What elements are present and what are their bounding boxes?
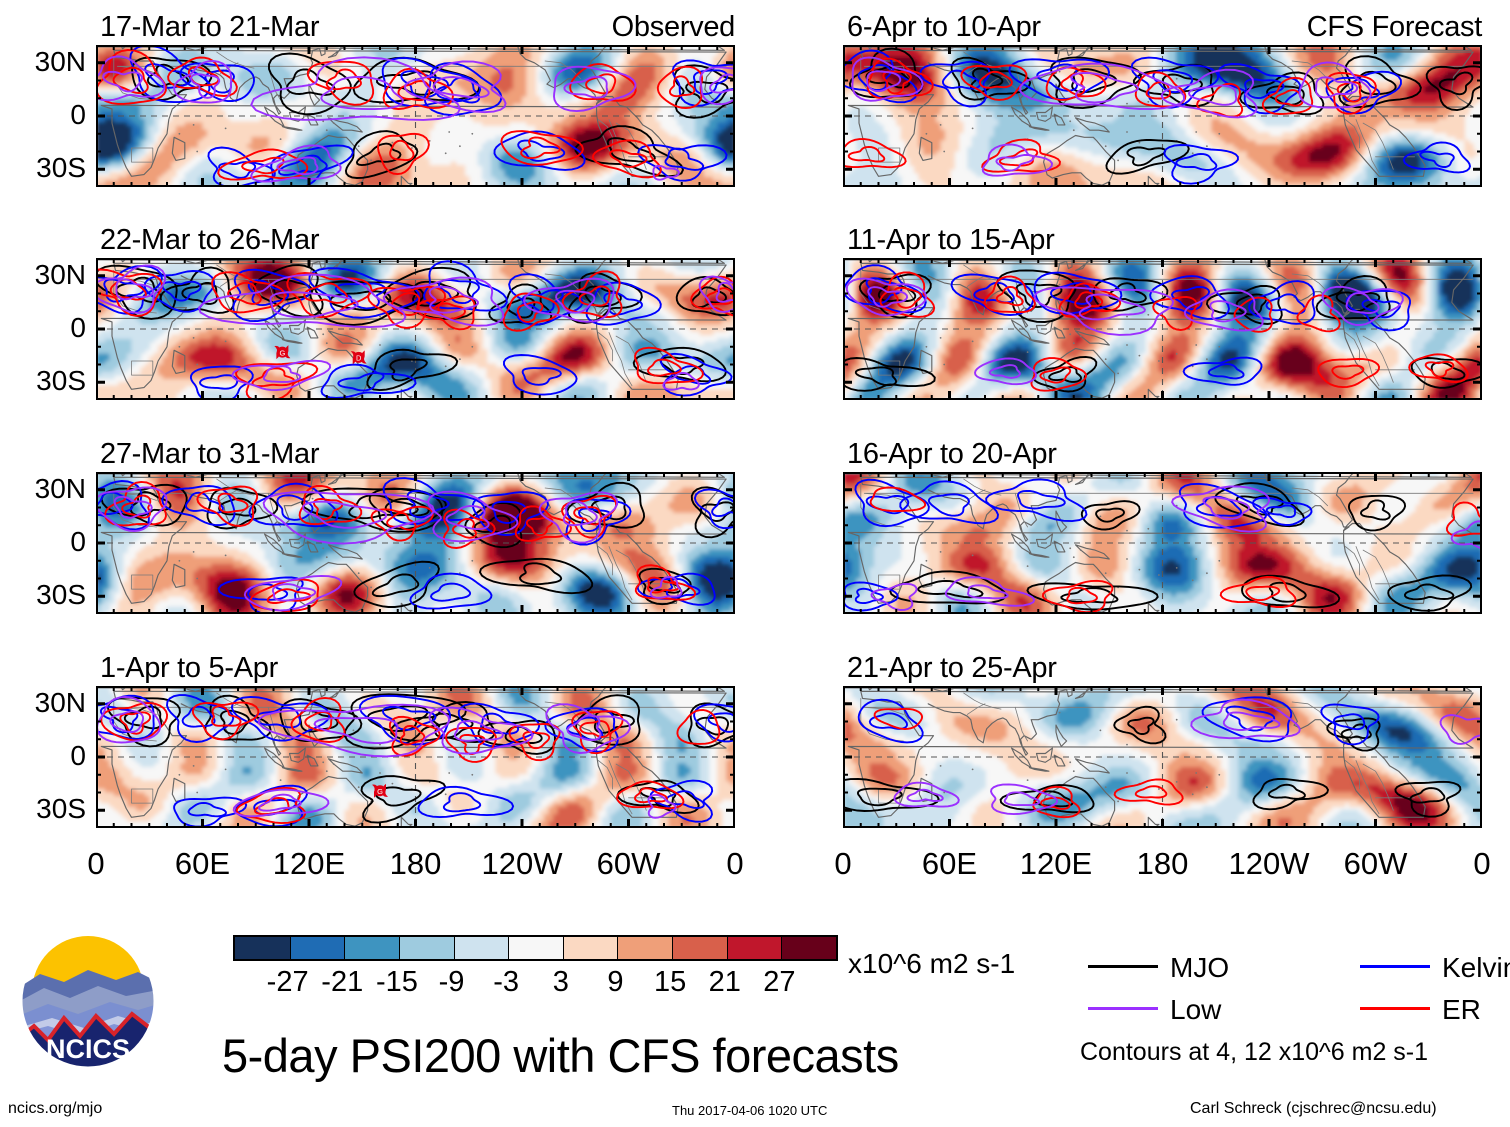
contour-mjo <box>1094 278 1168 311</box>
contour-er <box>617 781 684 808</box>
contour-kelvin <box>1180 484 1267 528</box>
legend-label-kelvin-x2: Kelvin x2 <box>1442 952 1510 984</box>
x-tick-180-col0: 180 <box>356 846 476 882</box>
colorbar-segment-2 <box>344 937 399 959</box>
contour-er <box>985 277 1035 313</box>
contour-kelvin <box>418 787 513 817</box>
contour-kelvin <box>1203 697 1292 741</box>
contour-kelvin <box>208 148 275 188</box>
contour-kelvin <box>145 271 215 312</box>
contour-er <box>868 59 933 99</box>
contour-er <box>635 348 703 384</box>
contour-mjo <box>302 489 442 532</box>
y-tick-0-p1: 0 <box>8 99 86 131</box>
contour-mjo <box>354 58 480 103</box>
y-tick-30N-p3: 30N <box>8 473 86 505</box>
contour-low <box>653 166 679 180</box>
colorbar-segment-3 <box>399 937 454 959</box>
contour-mjo <box>1082 501 1140 529</box>
contour-mjo <box>489 284 551 324</box>
legend-swatch-low <box>1088 1007 1158 1010</box>
contour-er <box>300 486 362 524</box>
contour-low <box>847 279 926 316</box>
colorbar-segment-7 <box>617 937 672 959</box>
x-tick-60W-col1: 60W <box>1316 846 1436 882</box>
colorbar-segment-1 <box>290 937 345 959</box>
contour-low <box>894 783 958 807</box>
contour-kelvin <box>96 696 154 739</box>
panel-title-p1: 17-Mar to 21-Mar <box>100 11 319 44</box>
contour-kelvin <box>1184 358 1262 385</box>
contour-er <box>1235 298 1272 332</box>
contour-kelvin <box>586 283 660 325</box>
contour-kelvin <box>694 704 735 741</box>
contour-mjo <box>1001 785 1094 812</box>
contour-er <box>97 50 166 104</box>
map-p4: G <box>96 686 735 828</box>
legend-item-mjo: MJO <box>1088 952 1328 986</box>
contour-mjo <box>843 358 935 391</box>
contour-er <box>1047 68 1106 100</box>
contour-low <box>429 708 532 754</box>
contour-low <box>1452 521 1482 548</box>
contour-kelvin <box>638 145 726 181</box>
contour-kelvin <box>900 481 998 523</box>
panel-corner-p1: Observed <box>612 11 735 44</box>
contour-er <box>691 277 735 316</box>
contour-low <box>700 67 735 104</box>
x-tick-180-col1: 180 <box>1103 846 1223 882</box>
map-p7 <box>843 472 1482 614</box>
contour-mjo <box>1427 66 1482 110</box>
contour-mjo <box>843 779 939 811</box>
contour-low <box>1191 700 1300 739</box>
contour-er <box>871 488 926 512</box>
contour-kelvin <box>855 480 929 527</box>
contour-low <box>251 145 341 181</box>
contour-low <box>232 361 330 390</box>
panel-title-p4: 1-Apr to 5-Apr <box>100 652 278 685</box>
contour-kelvin <box>96 266 162 314</box>
contour-kelvin <box>232 697 329 741</box>
contour-mjo <box>1349 496 1405 531</box>
contour-mjo <box>254 265 323 316</box>
contour-er <box>563 271 622 317</box>
contour-mjo <box>634 348 726 382</box>
contour-er <box>570 64 636 101</box>
contour-er <box>218 150 307 180</box>
contour-mjo <box>1412 358 1482 388</box>
contour-er <box>212 272 285 312</box>
contour-er <box>101 703 167 740</box>
colorbar <box>233 935 838 961</box>
contour-kelvin <box>504 355 577 395</box>
map-p2: GD <box>96 258 735 400</box>
contour-low <box>97 697 160 743</box>
storm-marker: D <box>351 350 367 364</box>
x-tick-60E-col1: 60E <box>890 846 1010 882</box>
contour-kelvin <box>920 62 989 107</box>
contour-er <box>572 711 623 753</box>
contour-kelvin <box>1249 281 1315 324</box>
x-tick-120E-col0: 120E <box>249 846 369 882</box>
x-tick-0-col0: 0 <box>675 846 795 882</box>
colorbar-segment-10 <box>781 937 836 959</box>
colorbar-tick-27: 27 <box>739 966 819 999</box>
storm-marker: G <box>372 784 388 798</box>
contour-note: Contours at 4, 12 x10^6 m2 s-1 <box>1080 1038 1428 1067</box>
legend-swatch-mjo <box>1088 965 1158 968</box>
contour-kelvin <box>130 46 209 103</box>
contour-er <box>1136 72 1186 106</box>
ncics-logo-text: NCICS <box>46 1034 130 1064</box>
contour-low <box>1322 287 1402 325</box>
contour-low <box>1172 486 1269 531</box>
legend-label-er: ER <box>1442 994 1481 1026</box>
contour-low <box>174 61 231 103</box>
contour-er <box>1043 581 1113 612</box>
contour-kelvin <box>180 63 254 101</box>
colorbar-segment-4 <box>454 937 509 959</box>
legend-item-er: ER <box>1360 994 1510 1028</box>
contour-kelvin <box>410 574 491 609</box>
contour-low <box>251 57 460 120</box>
contour-kelvin <box>661 354 732 396</box>
contour-mjo <box>689 703 735 747</box>
y-tick-0-p3: 0 <box>8 526 86 558</box>
contour-er <box>291 698 344 742</box>
contour-er <box>1197 84 1242 117</box>
map-p3 <box>96 472 735 614</box>
contour-mjo <box>310 282 423 325</box>
main-title: 5-day PSI200 with CFS forecasts <box>222 1028 899 1083</box>
contour-low <box>405 62 506 113</box>
x-tick-120W-col0: 120W <box>462 846 582 882</box>
contour-kelvin <box>167 695 233 742</box>
contour-er <box>168 58 237 97</box>
contour-kelvin <box>191 366 253 400</box>
y-tick-30N-p1: 30N <box>8 46 86 78</box>
contour-mjo <box>618 781 699 814</box>
contour-mjo <box>280 699 361 741</box>
contour-mjo <box>1027 583 1157 609</box>
contour-kelvin <box>174 798 246 827</box>
contour-mjo <box>367 350 457 390</box>
panel-title-p7: 16-Apr to 20-Apr <box>847 438 1057 471</box>
contour-mjo <box>1051 57 1141 108</box>
contour-mjo <box>1395 782 1460 817</box>
contour-low <box>872 584 917 610</box>
contour-mjo <box>568 273 642 323</box>
contour-er <box>287 273 371 317</box>
contour-kelvin <box>844 265 926 312</box>
contour-kelvin <box>673 61 735 106</box>
legend-swatch-kelvin-x2 <box>1360 965 1430 968</box>
contour-mjo <box>1034 357 1097 392</box>
contour-er <box>1033 787 1079 817</box>
contour-mjo <box>567 483 644 528</box>
panel-title-p8: 21-Apr to 25-Apr <box>847 652 1057 685</box>
contour-kelvin <box>1035 273 1122 314</box>
contour-kelvin <box>271 145 353 187</box>
contour-low <box>554 67 636 111</box>
contour-low <box>524 279 614 322</box>
contour-mjo <box>385 268 476 319</box>
contour-mjo <box>576 126 683 176</box>
contour-er <box>1115 779 1183 804</box>
contour-mjo <box>675 65 736 118</box>
panel-title-p3: 27-Mar to 31-Mar <box>100 438 319 471</box>
contour-kelvin <box>1404 142 1470 172</box>
contour-er <box>843 139 906 167</box>
contour-er <box>193 702 258 739</box>
footer-author: Carl Schreck (cjschrec@ncsu.edu) <box>1190 1100 1437 1118</box>
x-tick-0-col1: 0 <box>1422 846 1510 882</box>
contour-kelvin <box>360 696 450 745</box>
colorbar-units-label: x10^6 m2 s-1 <box>848 948 1015 980</box>
contour-kelvin <box>383 58 481 106</box>
contour-mjo <box>161 268 234 313</box>
contour-kelvin <box>1347 291 1411 331</box>
contour-kelvin <box>651 781 713 822</box>
footer-left[interactable]: ncics.org/mjo <box>8 1100 102 1118</box>
legend-item-kelvin-x2: Kelvin x2 <box>1360 952 1510 986</box>
contour-low <box>1162 70 1257 118</box>
contour-mjo <box>354 562 439 607</box>
legend-label-low: Low <box>1170 994 1221 1026</box>
y-tick-30S-p2: 30S <box>8 365 86 397</box>
contour-low <box>852 57 922 100</box>
contour-mjo <box>370 489 446 529</box>
ncics-logo: NCICS <box>18 930 158 1072</box>
contour-er <box>636 565 695 600</box>
y-tick-30S-p1: 30S <box>8 152 86 184</box>
y-tick-30N-p2: 30N <box>8 259 86 291</box>
contour-kelvin <box>1150 276 1229 319</box>
contour-er <box>368 287 445 328</box>
contour-er <box>982 140 1060 172</box>
contour-mjo <box>1242 576 1339 608</box>
contour-low <box>700 277 735 312</box>
contour-er <box>658 67 702 108</box>
contour-kelvin <box>309 268 419 318</box>
contour-low <box>648 795 675 818</box>
contour-er <box>510 724 560 760</box>
contour-mjo <box>102 485 187 526</box>
y-tick-30N-p4: 30N <box>8 687 86 719</box>
x-tick-0-col1: 0 <box>783 846 903 882</box>
contour-mjo <box>479 721 556 754</box>
contour-kelvin <box>859 700 923 743</box>
contour-er <box>378 134 429 174</box>
contour-mjo <box>346 131 418 178</box>
contour-low <box>540 492 618 542</box>
contour-low <box>96 56 164 100</box>
contour-mjo <box>677 277 735 315</box>
storm-marker: G <box>274 345 290 359</box>
contour-er <box>961 65 1026 100</box>
contour-low <box>96 265 165 313</box>
legend-item-low: Low <box>1088 994 1328 1028</box>
contour-er <box>96 270 162 316</box>
colorbar-segment-5 <box>508 937 563 959</box>
y-tick-30S-p3: 30S <box>8 579 86 611</box>
contour-er <box>237 788 306 823</box>
contour-kelvin <box>236 786 307 827</box>
contour-er <box>1318 359 1379 387</box>
contour-er <box>1059 284 1120 317</box>
contour-kelvin <box>425 63 502 115</box>
x-tick-60W-col0: 60W <box>569 846 689 882</box>
contour-low <box>983 145 1052 176</box>
contour-mjo <box>890 571 1005 603</box>
contour-kelvin <box>233 270 310 321</box>
map-p5 <box>843 45 1482 187</box>
contour-kelvin <box>249 484 337 527</box>
contour-low <box>946 577 1034 606</box>
contour-mjo <box>1215 483 1304 526</box>
contour-er <box>880 272 934 317</box>
contour-low <box>1185 290 1263 331</box>
contour-low <box>199 275 406 328</box>
map-p6 <box>843 258 1482 400</box>
contour-mjo <box>850 49 922 98</box>
x-tick-120W-col1: 120W <box>1209 846 1329 882</box>
map-p1 <box>96 45 735 187</box>
contour-er <box>1153 297 1196 330</box>
contour-mjo <box>1388 576 1471 611</box>
contour-low <box>245 576 341 611</box>
contour-mjo <box>1207 286 1282 324</box>
contour-er <box>372 507 433 541</box>
contour-kelvin <box>566 499 630 544</box>
contour-kelvin <box>843 51 917 103</box>
colorbar-segment-8 <box>672 937 727 959</box>
contour-er <box>384 69 454 109</box>
contour-kelvin <box>1327 72 1401 114</box>
contour-mjo <box>465 503 521 547</box>
footer-timestamp: Thu 2017-04-06 1020 UTC <box>672 1103 827 1118</box>
contour-er <box>308 62 373 105</box>
contour-low <box>546 704 630 753</box>
contour-er <box>251 580 319 612</box>
contour-er <box>875 709 923 729</box>
contour-low <box>234 790 329 817</box>
contour-mjo <box>362 776 446 823</box>
contour-er <box>1031 358 1086 391</box>
contour-kelvin <box>986 479 1086 521</box>
contour-er <box>593 140 661 177</box>
contour-low <box>1034 287 1173 335</box>
contour-er <box>1409 354 1468 382</box>
contour-low <box>428 492 517 542</box>
contour-mjo <box>692 487 735 537</box>
contour-mjo <box>1114 707 1165 744</box>
contour-er <box>1326 73 1375 114</box>
contour-kelvin <box>1321 704 1378 744</box>
contour-kelvin <box>96 481 149 529</box>
contour-er <box>417 296 474 329</box>
x-tick-0-col0: 0 <box>36 846 156 882</box>
contour-low <box>975 359 1036 385</box>
contour-mjo <box>269 54 351 115</box>
contour-mjo <box>208 488 278 528</box>
contour-mjo <box>1317 276 1390 318</box>
contour-er <box>501 131 583 165</box>
contour-mjo <box>205 696 270 740</box>
contour-kelvin <box>459 704 539 747</box>
contour-low <box>259 705 450 757</box>
panel-corner-p5: CFS Forecast <box>1307 11 1482 44</box>
contour-mjo <box>1106 140 1188 174</box>
contour-er <box>1263 78 1312 114</box>
contour-low <box>1300 62 1371 107</box>
legend-swatch-er <box>1360 1007 1430 1010</box>
contour-low <box>651 577 682 598</box>
contour-kelvin <box>384 478 485 524</box>
y-tick-30S-p4: 30S <box>8 793 86 825</box>
contour-kelvin <box>1218 64 1300 114</box>
contour-mjo <box>640 569 691 604</box>
contour-kelvin <box>1253 498 1312 525</box>
contour-mjo <box>1253 779 1328 809</box>
contour-er <box>1447 502 1482 535</box>
contour-mjo <box>391 702 494 742</box>
contour-er <box>1221 577 1296 607</box>
contour-low <box>1020 64 1184 110</box>
contour-mjo <box>1240 73 1323 115</box>
contour-mjo <box>1327 718 1379 750</box>
contour-low <box>1441 715 1482 744</box>
contour-kelvin <box>162 486 234 525</box>
contour-er <box>562 496 616 538</box>
contour-er <box>516 506 571 541</box>
colorbar-segment-6 <box>563 937 618 959</box>
contour-er <box>236 363 317 400</box>
contour-mjo <box>132 58 211 100</box>
contour-kelvin <box>545 708 618 751</box>
contour-mjo <box>576 695 639 745</box>
contour-er <box>444 510 495 548</box>
contour-kelvin <box>509 274 582 325</box>
contour-mjo <box>1134 65 1213 106</box>
x-tick-60E-col0: 60E <box>143 846 263 882</box>
contour-low <box>991 784 1057 814</box>
contour-mjo <box>860 274 931 317</box>
contour-kelvin <box>424 261 507 310</box>
contour-mjo <box>1339 56 1421 107</box>
legend-label-mjo: MJO <box>1170 952 1229 984</box>
contour-kelvin <box>322 365 416 398</box>
panel-title-p6: 11-Apr to 15-Apr <box>847 224 1054 257</box>
contour-er <box>504 294 559 331</box>
contour-er <box>1297 295 1339 331</box>
contour-er <box>677 710 719 744</box>
map-p8 <box>843 686 1482 828</box>
contour-kelvin <box>1132 58 1219 108</box>
contour-er <box>197 487 257 527</box>
y-tick-0-p2: 0 <box>8 312 86 344</box>
colorbar-segment-0 <box>235 937 290 959</box>
contour-kelvin <box>695 489 735 528</box>
contour-low <box>264 492 434 544</box>
contour-kelvin <box>473 492 548 535</box>
contour-kelvin <box>219 577 303 614</box>
contour-kelvin <box>638 574 715 605</box>
contour-er <box>105 482 166 526</box>
panel-title-p2: 22-Mar to 26-Mar <box>100 224 319 257</box>
contour-mjo <box>96 266 177 319</box>
